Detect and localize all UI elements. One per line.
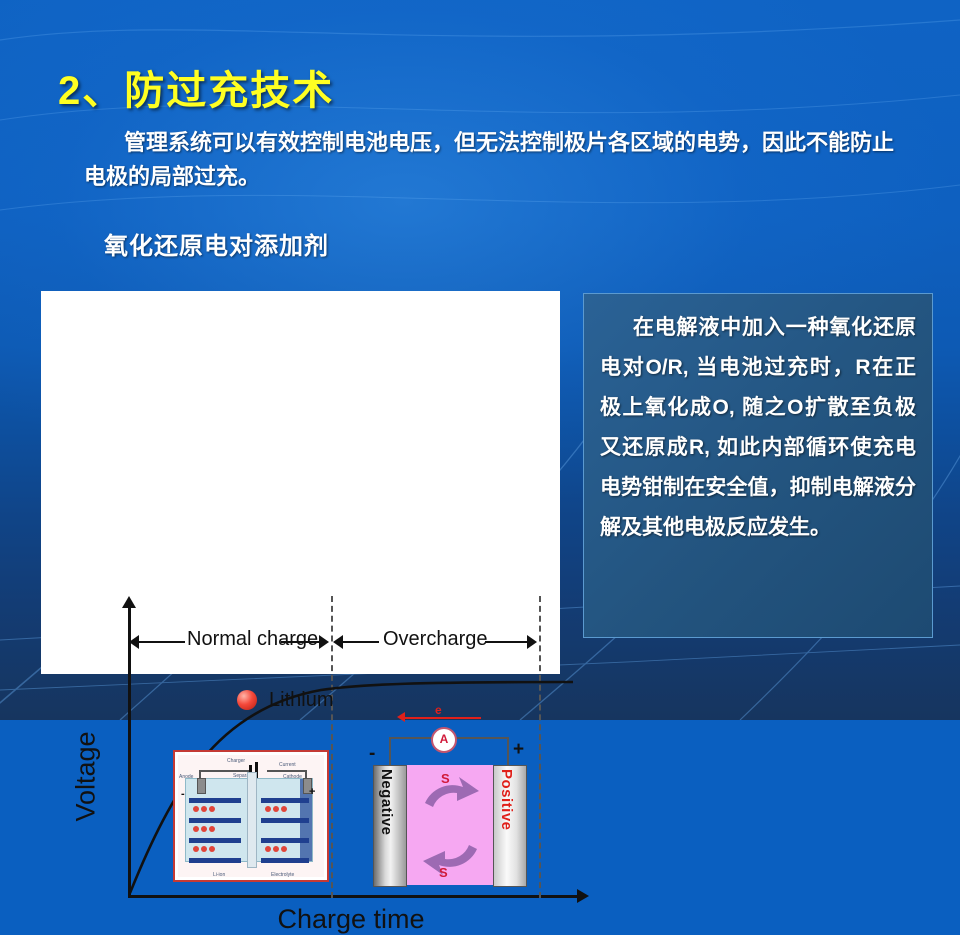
- inset-electrode-plate: [189, 838, 241, 843]
- inset-label-current: Current: [279, 762, 296, 768]
- inset-ion: [193, 806, 199, 812]
- inset-electrode-plate: [261, 798, 309, 803]
- inset-ion-group: [193, 826, 215, 832]
- inset-ion: [265, 806, 271, 812]
- inset-ion-group: [265, 846, 287, 852]
- inset-ion: [281, 806, 287, 812]
- inset-ion: [265, 846, 271, 852]
- body-paragraph: 管理系统可以有效控制电池电压，但无法控制极片各区域的电势，因此不能防止电极的局部…: [84, 126, 914, 194]
- electrode-positive-label: Positive: [498, 769, 515, 883]
- inset-ion: [201, 806, 207, 812]
- section-subheading: 氧化还原电对添加剂: [104, 226, 329, 261]
- electrode-negative-label: Negative: [378, 769, 395, 883]
- inset-battery-cell-diagram: Charger Current Anode Cathode Separator …: [173, 750, 329, 882]
- inset-electrode-plate: [189, 798, 241, 803]
- inset-ion: [281, 846, 287, 852]
- inset-electrode-plate: [261, 858, 309, 863]
- inset-electrode-plate: [261, 818, 309, 823]
- inset-electrode-plate: [261, 838, 309, 843]
- inset-label-electrolyte: Electrolyte: [271, 872, 294, 878]
- inset-wire: [453, 737, 509, 739]
- inset-label-ion: Li-ion: [213, 872, 225, 878]
- inset-redox-shuttle-diagram: e A - + S S Negative Positive: [361, 709, 541, 895]
- page-title: 2、防过充技术: [58, 58, 334, 116]
- inset-wire: [267, 770, 307, 772]
- inset-label-charger: Charger: [227, 758, 245, 764]
- terminal-sign-plus: +: [513, 739, 524, 761]
- terminal-sign-minus: -: [369, 743, 375, 765]
- inset-ion: [201, 846, 207, 852]
- inset-ion: [193, 846, 199, 852]
- y-axis-label: Voltage: [71, 692, 102, 862]
- inset-electrode-plate: [189, 858, 241, 863]
- inset-wire: [507, 737, 509, 767]
- inset-wire: [389, 737, 433, 739]
- inset-sign-minus: -: [181, 788, 185, 800]
- inset-sign-plus: +: [309, 786, 315, 798]
- inset-ion-group: [193, 806, 215, 812]
- inset-ion: [193, 826, 199, 832]
- redox-cycle-arrows: [405, 765, 497, 887]
- inset-ion: [209, 846, 215, 852]
- inset-ion: [273, 846, 279, 852]
- inset-ion-group: [193, 846, 215, 852]
- inset-wire: [199, 770, 249, 772]
- electron-flow-arrow: [403, 717, 481, 719]
- species-oxidized-label: S: [441, 771, 450, 786]
- figure-panel: Voltage Charge time Normal charge Overch…: [41, 291, 560, 674]
- x-axis-label: Charge time: [201, 904, 501, 935]
- ammeter-icon: A: [431, 727, 457, 753]
- inset-terminal-negative: [197, 778, 206, 794]
- paragraph-text: 管理系统可以有效控制电池电压，但无法控制极片各区域的电势，因此不能防止电极的局部…: [84, 130, 894, 189]
- callout-box: 在电解液中加入一种氧化还原电对O/R, 当电池过充时，R在正极上氧化成O, 随之…: [583, 293, 933, 638]
- lithium-label: Lithium: [269, 689, 333, 712]
- species-reduced-label: S: [439, 865, 448, 880]
- inset-wire: [389, 737, 391, 767]
- electron-label: e: [435, 703, 442, 717]
- inset-ion: [209, 826, 215, 832]
- inset-ion: [209, 806, 215, 812]
- inset-ion-group: [265, 806, 287, 812]
- inset-ion: [273, 806, 279, 812]
- inset-separator-membrane: [247, 772, 257, 868]
- lithium-ion-marker-icon: [237, 690, 257, 710]
- callout-paragraph: 在电解液中加入一种氧化还原电对O/R, 当电池过充时，R在正极上氧化成O, 随之…: [600, 308, 916, 548]
- arrow-left-icon: [397, 712, 405, 722]
- inset-electrode-plate: [189, 818, 241, 823]
- callout-text: 在电解液中加入一种氧化还原电对O/R, 当电池过充时，R在正极上氧化成O, 随之…: [600, 316, 916, 539]
- inset-ion: [201, 826, 207, 832]
- figure-canvas: Voltage Charge time Normal charge Overch…: [41, 291, 560, 674]
